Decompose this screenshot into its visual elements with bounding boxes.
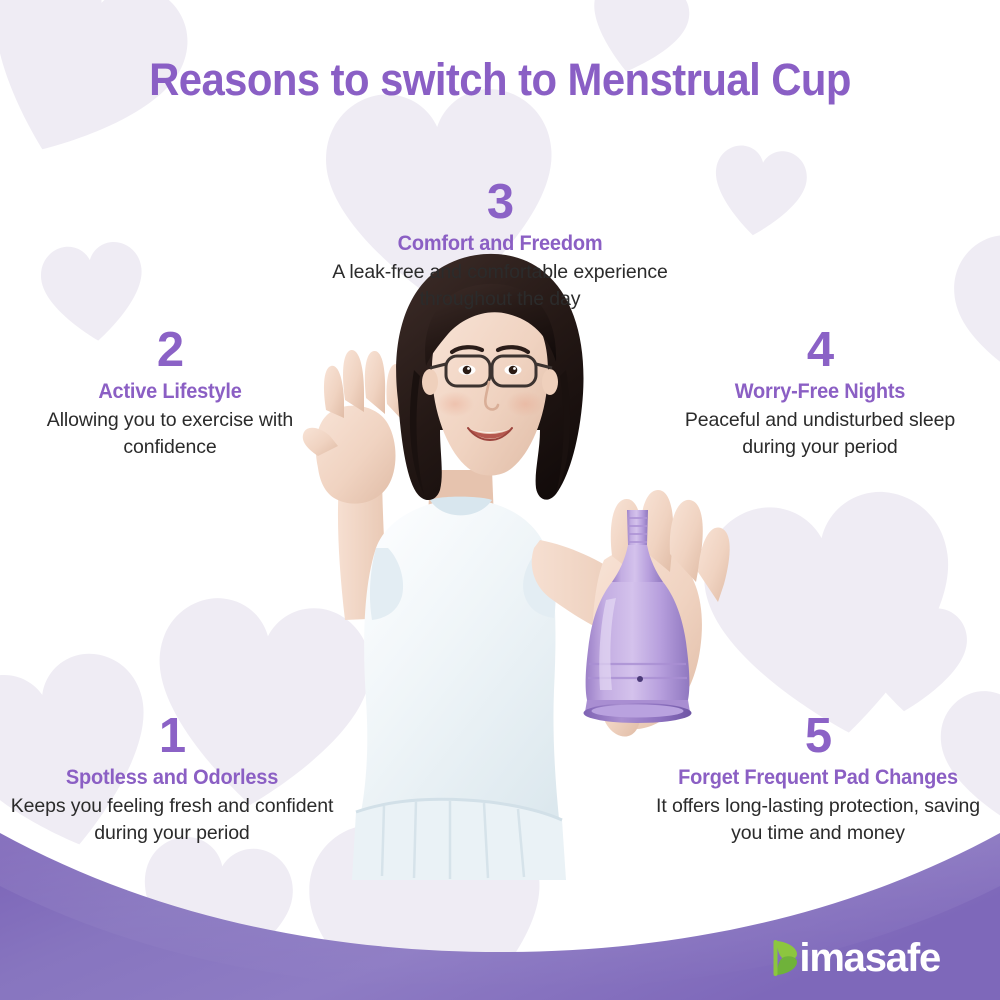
leaf-icon [772, 939, 800, 977]
reason-item-3: 3 Comfort and Freedom A leak-free and co… [320, 178, 680, 314]
reason-item-4: 4 Worry-Free Nights Peaceful and undistu… [660, 326, 980, 462]
menstrual-cup [584, 510, 692, 723]
reason-heading: Worry-Free Nights [668, 380, 972, 405]
page-title: Reasons to switch to Menstrual Cup [35, 54, 965, 106]
brand-logo[interactable]: imasafe [772, 938, 943, 978]
reason-heading: Spotless and Odorless [9, 766, 336, 791]
reason-number: 1 [0, 712, 344, 761]
reason-description: Peaceful and undisturbed sleep during yo… [660, 407, 980, 462]
reason-item-5: 5 Forget Frequent Pad Changes It offers … [640, 712, 996, 848]
reason-heading: Comfort and Freedom [329, 232, 671, 257]
reason-number: 5 [640, 712, 996, 761]
reason-heading: Forget Frequent Pad Changes [649, 766, 987, 791]
reason-description: A leak-free and comfortable experience t… [320, 259, 680, 314]
infographic-canvas: Reasons to switch to Menstrual Cup [0, 0, 1000, 1000]
reason-number: 4 [660, 326, 980, 375]
reason-heading: Active Lifestyle [28, 380, 313, 405]
reason-item-2: 2 Active Lifestyle Allowing you to exerc… [20, 326, 320, 462]
reason-number: 3 [320, 178, 680, 227]
brand-wordmark: imasafe [799, 938, 940, 978]
reason-number: 2 [20, 326, 320, 375]
reason-item-1: 1 Spotless and Odorless Keeps you feelin… [0, 712, 344, 848]
reason-description: Allowing you to exercise with confidence [20, 407, 320, 462]
